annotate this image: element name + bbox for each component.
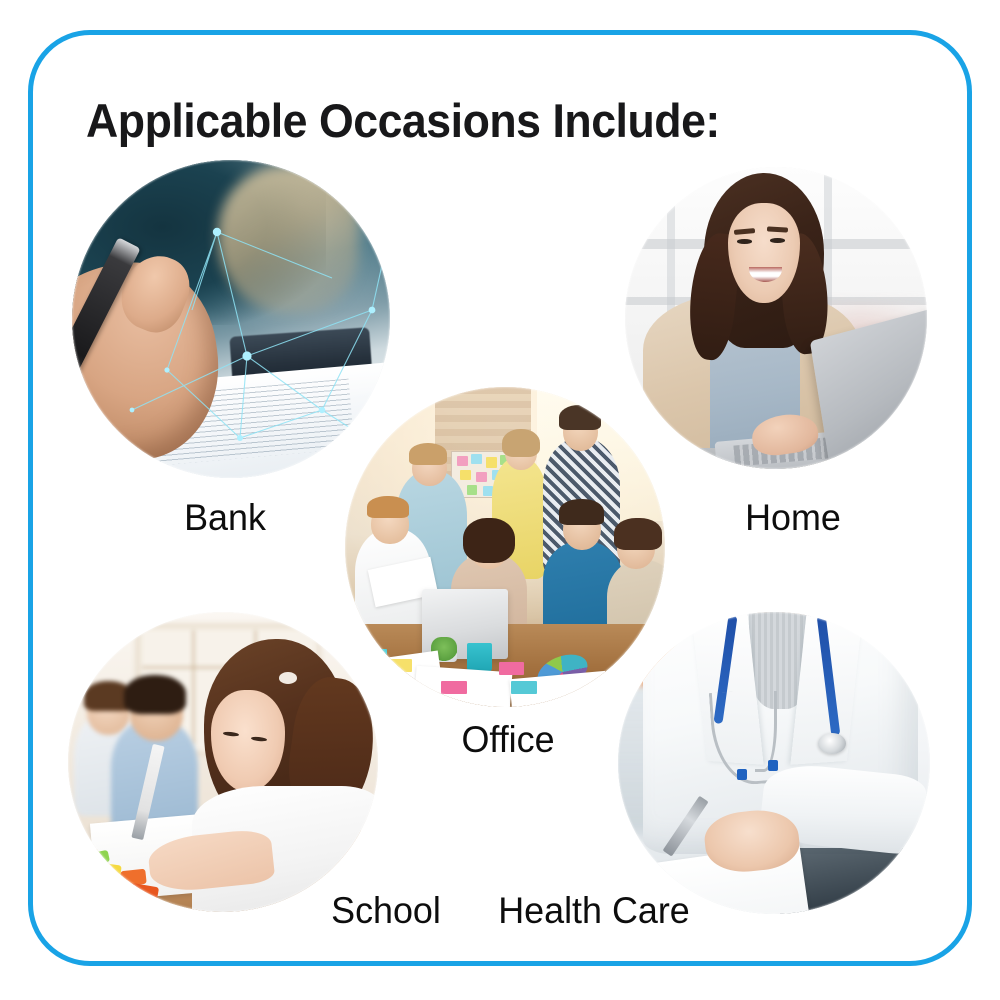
occasion-circle-office [345,387,665,707]
occasion-circle-health-care [618,612,930,914]
occasion-label-bank: Bank [184,497,266,539]
page-title: Applicable Occasions Include: [86,93,720,148]
health-care-photo [618,612,930,914]
occasion-label-home: Home [745,497,841,539]
occasion-label-office: Office [461,719,554,761]
occasion-label-health-care: Health Care [498,890,690,932]
occasion-circle-bank [72,160,390,478]
network-overlay-icon [72,160,390,478]
home-photo [625,167,927,469]
office-photo [345,387,665,707]
school-photo [68,612,378,912]
occasion-label-school: School [331,890,441,932]
promo-banner: Applicable Occasions Include: [0,0,1000,1000]
occasion-circle-school [68,612,378,912]
bank-photo [72,160,390,478]
occasion-circle-home [625,167,927,469]
